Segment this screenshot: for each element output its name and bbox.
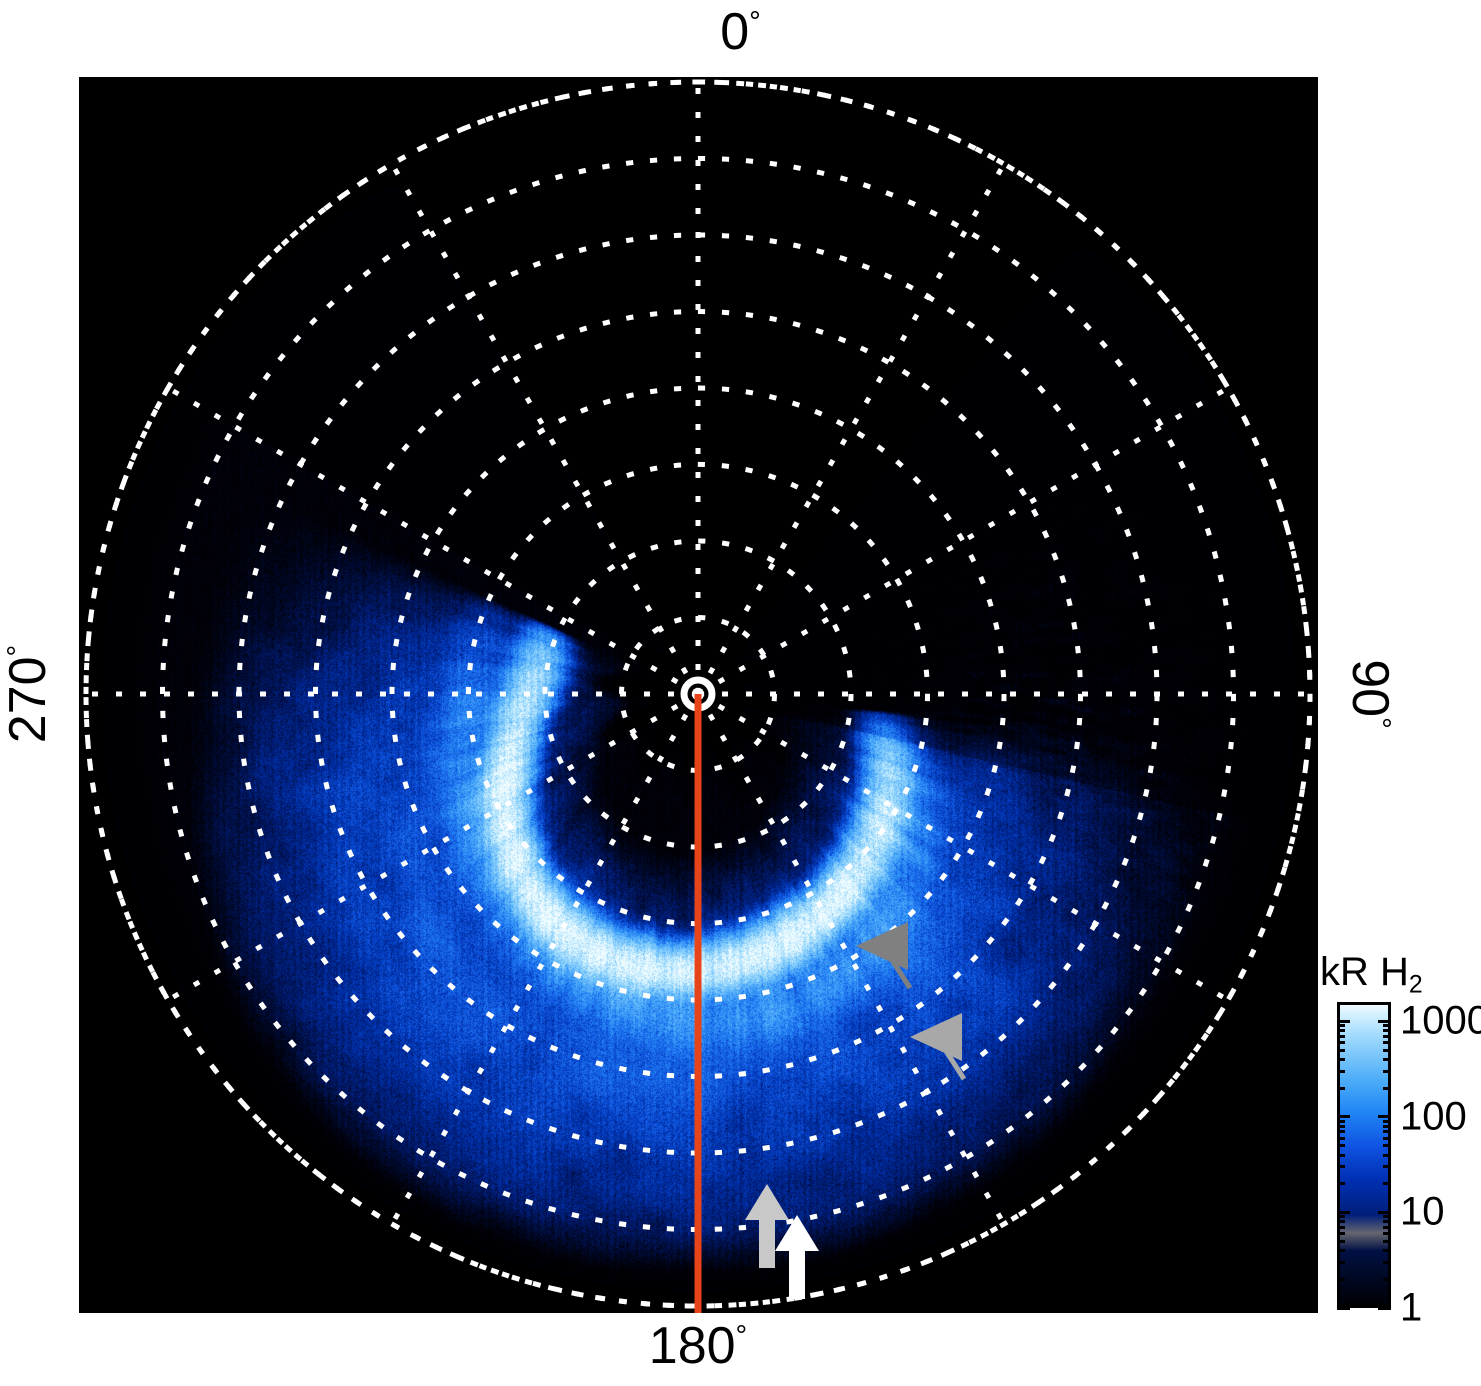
colorbar-tick [1383, 1165, 1391, 1168]
colorbar-tick [1337, 1165, 1345, 1168]
colorbar-tick [1337, 1130, 1345, 1133]
colorbar-tick [1378, 1020, 1391, 1023]
colorbar-tick [1383, 1182, 1391, 1185]
colorbar-tick [1378, 1115, 1391, 1118]
colorbar-label-10: 10 [1400, 1190, 1445, 1235]
colorbar-tick [1383, 1144, 1391, 1147]
colorbar-tick [1383, 1154, 1391, 1157]
colorbar-tick [1383, 1041, 1391, 1044]
colorbar-tick [1337, 1211, 1350, 1214]
colorbar-tick [1337, 1049, 1345, 1052]
colorbar-tick [1383, 1137, 1391, 1140]
colorbar-tick [1383, 1130, 1391, 1133]
colorbar-tick [1337, 1144, 1345, 1147]
axis-label-90deg: 90° [1344, 614, 1396, 774]
colorbar-title: kR H2 [1320, 950, 1423, 999]
colorbar-tick [1383, 1029, 1391, 1032]
colorbar-tick [1383, 1240, 1391, 1243]
colorbar-tick [1383, 1120, 1391, 1123]
figure-root: 0° 90° 180° 270° kR H2 1000 100 10 1 [0, 0, 1481, 1386]
colorbar-tick [1383, 1087, 1391, 1090]
colorbar-tick [1337, 1087, 1345, 1090]
colorbar-tick [1337, 1041, 1345, 1044]
colorbar-tick [1378, 1211, 1391, 1214]
colorbar-tick [1383, 1070, 1391, 1073]
colorbar-tick [1337, 1232, 1345, 1235]
colorbar-tick [1337, 1070, 1345, 1073]
colorbar-tick [1383, 1278, 1391, 1281]
colorbar-tick [1337, 1240, 1345, 1243]
colorbar-tick [1383, 1058, 1391, 1061]
colorbar-tick [1337, 1029, 1345, 1032]
colorbar-tick [1383, 1261, 1391, 1264]
colorbar-tick [1337, 1261, 1345, 1264]
colorbar-tick [1383, 1049, 1391, 1052]
polar-plot-panel [79, 77, 1318, 1313]
colorbar-tick [1383, 1215, 1391, 1218]
colorbar-tick [1337, 1058, 1345, 1061]
colorbar-ticks [1316, 1002, 1391, 1308]
colorbar-tick [1383, 1035, 1391, 1038]
colorbar-tick [1337, 1154, 1345, 1157]
colorbar-tick [1337, 1215, 1345, 1218]
colorbar-tick [1337, 1220, 1345, 1223]
colorbar-tick [1337, 1278, 1345, 1281]
colorbar-tick [1337, 1035, 1345, 1038]
colorbar-tick [1337, 1182, 1345, 1185]
colorbar-tick [1383, 1024, 1391, 1027]
colorbar-tick [1337, 1226, 1345, 1229]
colorbar-tick [1337, 1115, 1350, 1118]
colorbar-tick [1337, 1125, 1345, 1128]
polar-grid-overlay [79, 77, 1318, 1313]
colorbar-tick [1378, 1307, 1391, 1310]
axis-label-180deg: 180° [0, 1320, 1396, 1372]
colorbar-tick [1383, 1249, 1391, 1252]
colorbar-tick [1337, 1307, 1350, 1310]
axis-label-270deg: 270° [2, 604, 54, 784]
colorbar-tick [1383, 1125, 1391, 1128]
colorbar-label-1: 1 [1400, 1286, 1422, 1331]
colorbar-tick [1337, 1137, 1345, 1140]
colorbar-tick [1337, 1024, 1345, 1027]
colorbar-tick [1337, 1249, 1345, 1252]
colorbar-label-100: 100 [1400, 1094, 1467, 1139]
colorbar-tick [1337, 1120, 1345, 1123]
colorbar-tick [1383, 1232, 1391, 1235]
colorbar-tick [1383, 1220, 1391, 1223]
colorbar-tick [1337, 1020, 1350, 1023]
axis-label-0deg: 0° [0, 6, 1481, 58]
colorbar-tick [1383, 1226, 1391, 1229]
colorbar-label-1000: 1000 [1400, 999, 1481, 1044]
